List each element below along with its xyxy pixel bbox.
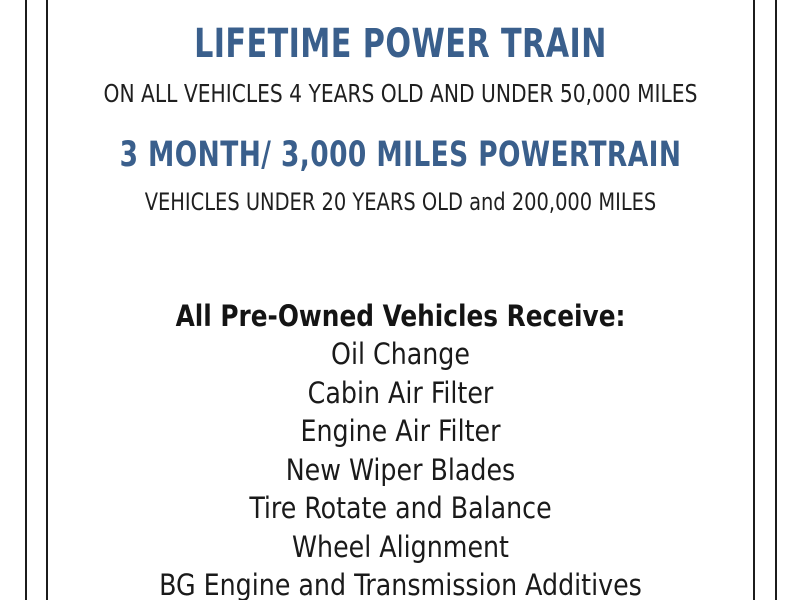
three-month-powertrain-headline: 3 MONTH/ 3,000 MILES POWERTRAIN — [104, 138, 696, 173]
services-list-section: All Pre-Owned Vehicles Receive: Oil Chan… — [48, 297, 753, 600]
list-item: Engine Air Filter — [59, 412, 743, 451]
list-item: Wheel Alignment — [59, 528, 743, 567]
list-item: Cabin Air Filter — [59, 374, 743, 413]
right-outer-border-rule — [775, 0, 777, 600]
offer-block-three-month-powertrain: 3 MONTH/ 3,000 MILES POWERTRAIN VEHICLES… — [48, 138, 753, 214]
list-item: Tire Rotate and Balance — [59, 489, 743, 528]
lifetime-powertrain-headline: LIFETIME POWER TRAIN — [104, 0, 696, 64]
list-item: BG Engine and Transmission Additives — [59, 566, 743, 600]
list-item: New Wiper Blades — [59, 451, 743, 490]
flyer-content: LIFETIME POWER TRAIN ON ALL VEHICLES 4 Y… — [48, 0, 753, 600]
services-list-heading: All Pre-Owned Vehicles Receive: — [66, 297, 736, 335]
list-item: Oil Change — [59, 335, 743, 374]
three-month-powertrain-subline: VEHICLES UNDER 20 YEARS OLD and 200,000 … — [83, 173, 718, 214]
lifetime-powertrain-subline: ON ALL VEHICLES 4 YEARS OLD AND UNDER 50… — [83, 64, 718, 106]
right-inner-border-rule — [753, 0, 755, 600]
left-outer-border-rule — [25, 0, 27, 600]
promotional-flyer: LIFETIME POWER TRAIN ON ALL VEHICLES 4 Y… — [0, 0, 800, 600]
offer-block-lifetime-powertrain: LIFETIME POWER TRAIN ON ALL VEHICLES 4 Y… — [48, 0, 753, 106]
